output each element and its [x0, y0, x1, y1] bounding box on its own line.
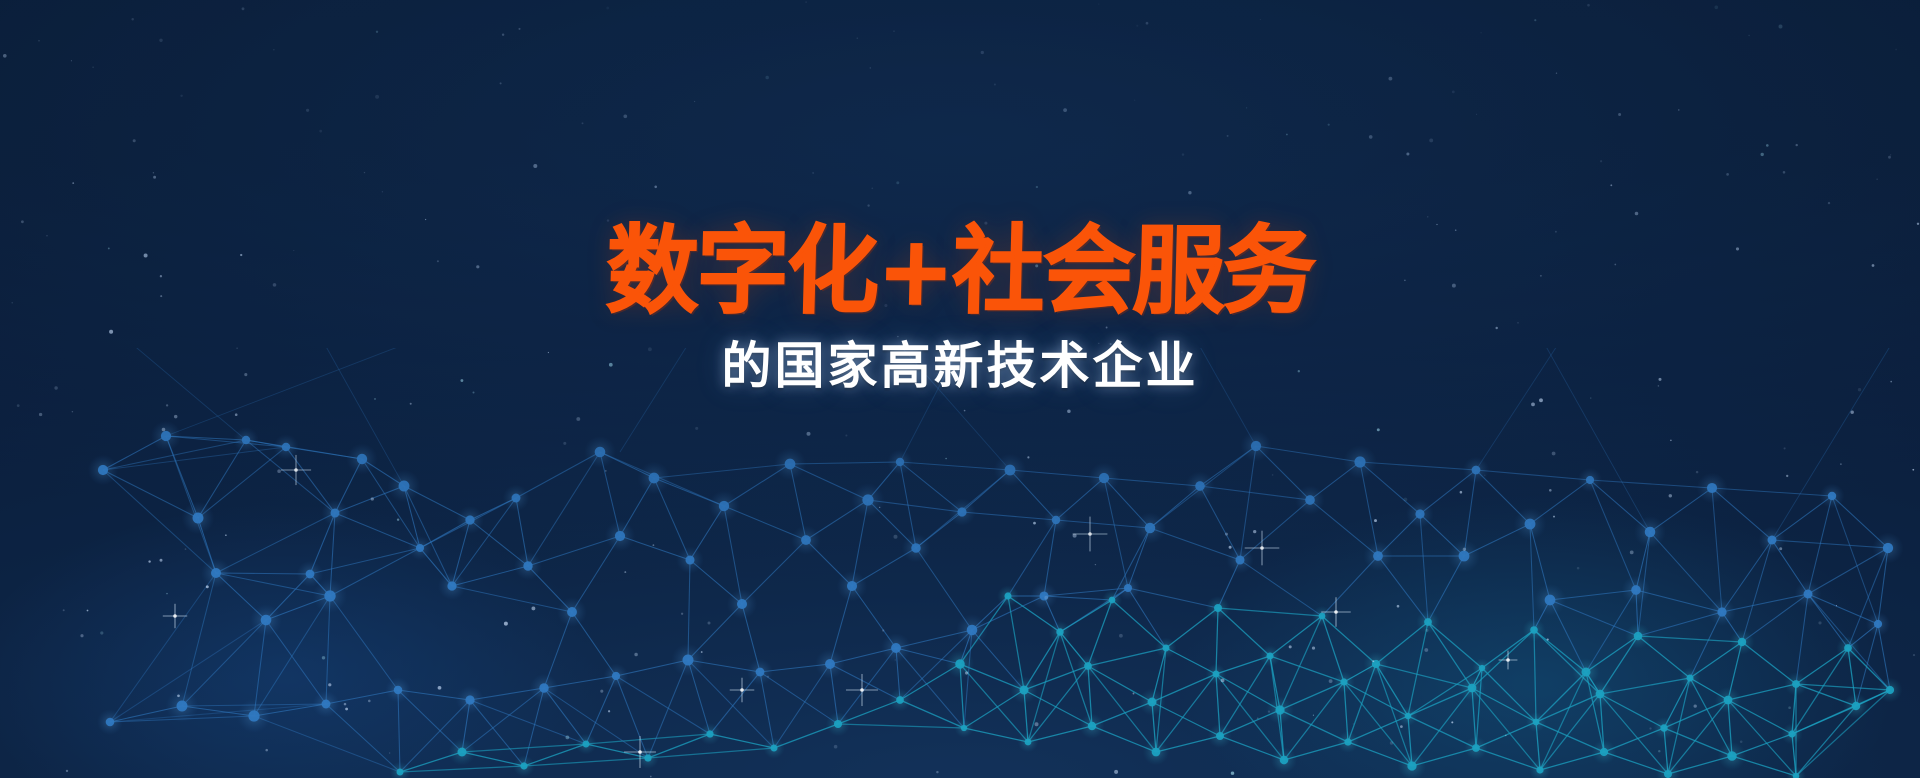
- mesh-nodes: [88, 421, 1904, 778]
- banner-root: 数字化+社会服务 的国家高新技术企业: [0, 0, 1920, 778]
- mesh-edges: [80, 348, 1900, 776]
- network-mesh-graphic: [0, 348, 1920, 778]
- banner-copy: 数字化+社会服务 的国家高新技术企业: [0, 222, 1920, 396]
- banner-headline: 数字化+社会服务: [37, 222, 1883, 322]
- banner-subheadline: 的国家高新技术企业: [0, 336, 1920, 396]
